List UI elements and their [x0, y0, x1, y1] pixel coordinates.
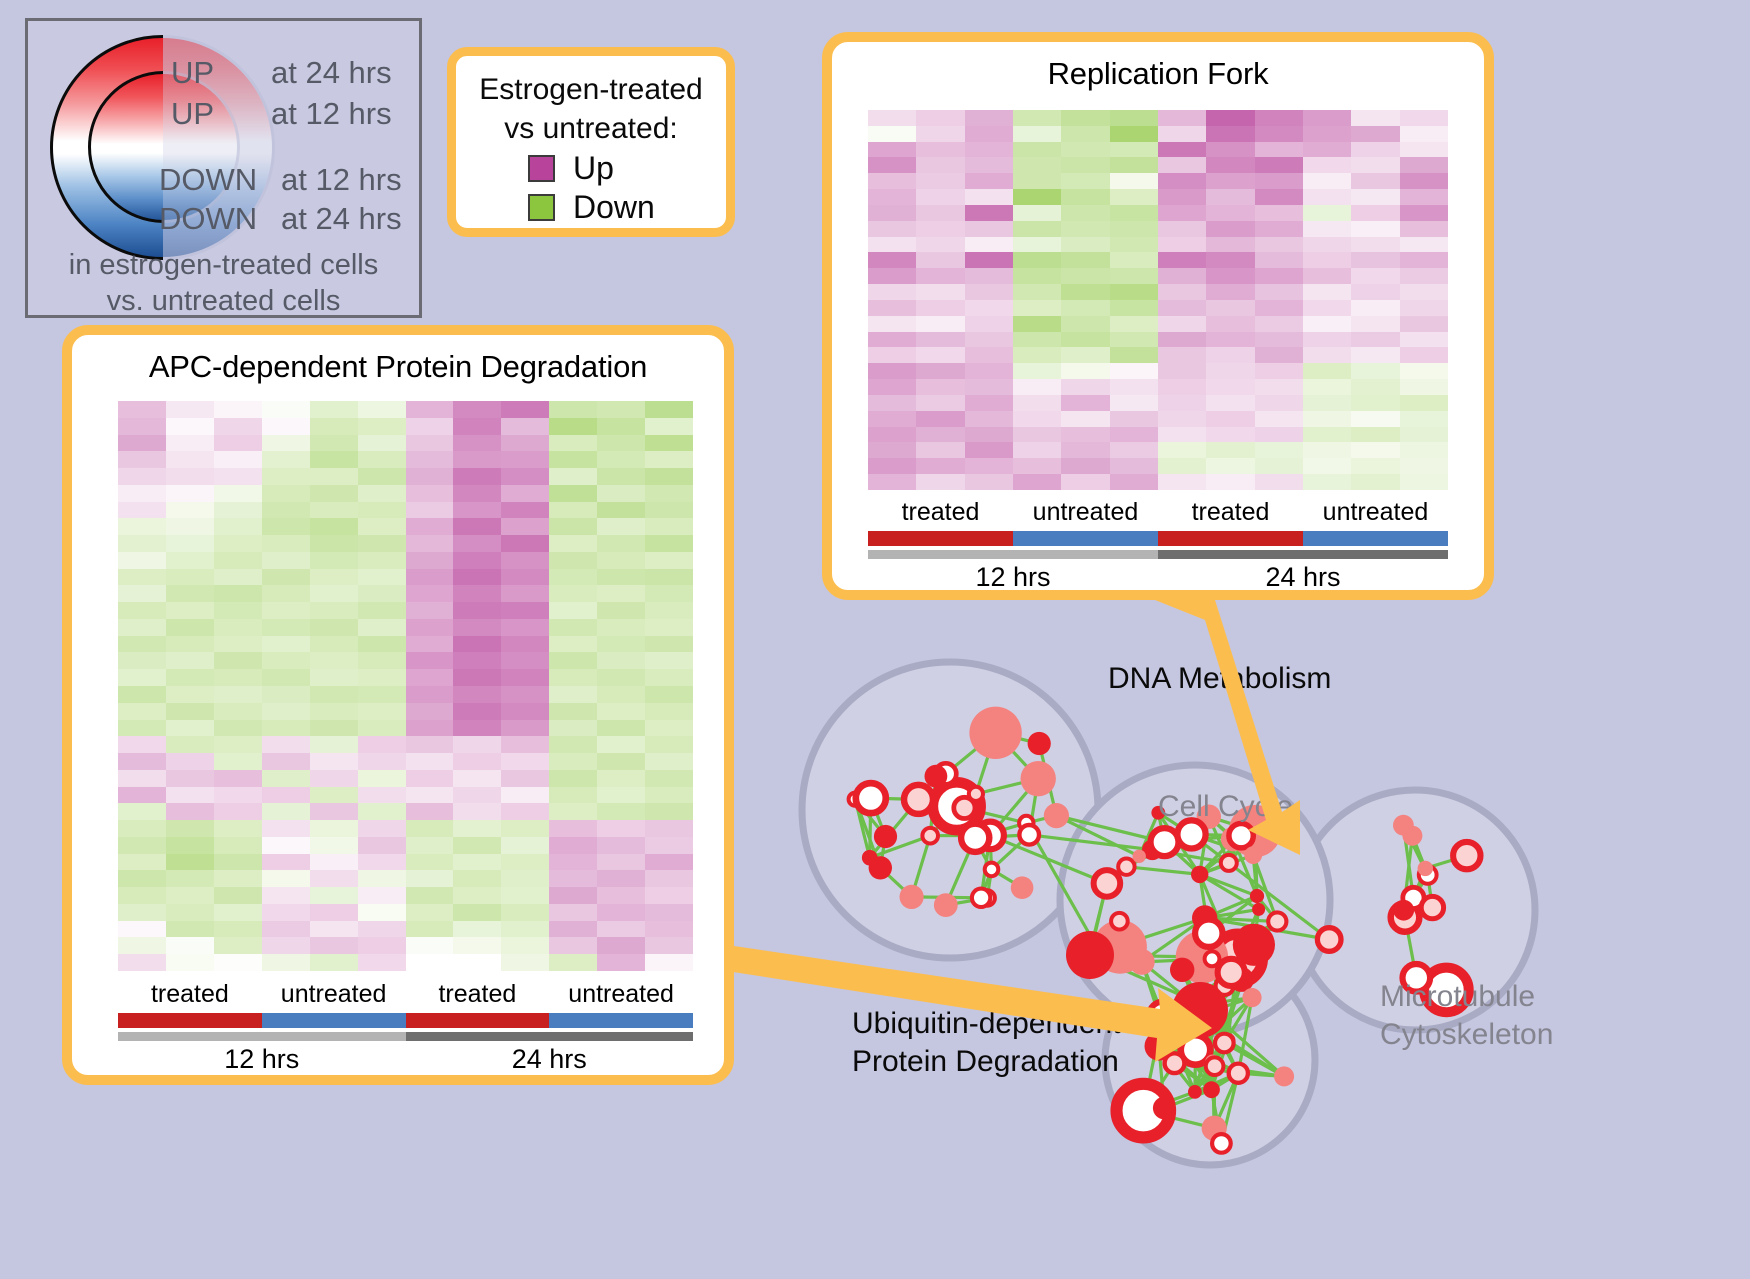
network-node[interactable]: [900, 885, 924, 909]
rf-treatment-bars: [868, 531, 1448, 546]
heat-cell: [1013, 379, 1061, 395]
heat-cell: [549, 401, 597, 418]
heat-cell: [118, 904, 166, 921]
heat-cell: [1013, 221, 1061, 237]
legend-time-down-24hrs: at 24 hrs: [281, 201, 402, 237]
heat-cell: [1013, 458, 1061, 474]
network-node[interactable]: [1203, 1081, 1220, 1098]
heat-cell: [597, 535, 645, 552]
heat-cell: [645, 820, 693, 837]
heat-cell: [166, 770, 214, 787]
heat-cell: [965, 237, 1013, 253]
heat-cell: [406, 686, 454, 703]
legend-state-up-12hrs: UP: [171, 96, 214, 132]
network-node[interactable]: [1011, 876, 1034, 899]
heat-cell: [1400, 411, 1448, 427]
heat-cell: [1158, 173, 1206, 189]
heat-cell: [868, 316, 916, 332]
heat-cell: [310, 418, 358, 435]
heat-cell: [453, 669, 501, 686]
heat-cell: [549, 753, 597, 770]
heat-cell: [645, 870, 693, 887]
heat-cell: [597, 870, 645, 887]
heat-cell: [965, 458, 1013, 474]
heat-cell: [549, 736, 597, 753]
network-node[interactable]: [1229, 824, 1253, 848]
heat-cell: [965, 332, 1013, 348]
heat-cell: [166, 803, 214, 820]
pathway-network-diagram: DNA Metabolism Cell Cycle Microtubule Cy…: [790, 610, 1750, 1279]
heat-cell: [453, 518, 501, 535]
heat-cell: [549, 518, 597, 535]
network-node[interactable]: [1028, 732, 1051, 755]
apc-treatment-bars: [118, 1013, 693, 1028]
heat-cell: [549, 502, 597, 519]
heat-cell: [645, 787, 693, 804]
heat-cell: [262, 401, 310, 418]
network-node[interactable]: [1242, 988, 1261, 1007]
heat-cell: [868, 252, 916, 268]
heat-cell: [1255, 237, 1303, 253]
heat-cell: [1255, 332, 1303, 348]
heat-cell: [453, 870, 501, 887]
heat-cell: [868, 221, 916, 237]
cluster-label-cell-cycle: Cell Cycle: [1158, 788, 1293, 826]
network-node[interactable]: [1206, 1057, 1224, 1075]
heat-cell: [1303, 427, 1351, 443]
heat-cell: [549, 585, 597, 602]
heat-cell: [916, 205, 964, 221]
heat-cell: [965, 221, 1013, 237]
heat-cell: [1158, 252, 1206, 268]
heat-cell: [645, 686, 693, 703]
group-label-treated: treated: [406, 980, 550, 1009]
network-node[interactable]: [1317, 928, 1341, 952]
heat-cell: [1158, 316, 1206, 332]
group-bar-untreated: [1013, 531, 1158, 546]
heat-cell: [501, 502, 549, 519]
heat-cell: [916, 268, 964, 284]
heat-cell: [1061, 110, 1109, 126]
heat-cell: [1110, 268, 1158, 284]
heat-cell: [214, 954, 262, 971]
heat-cell: [1158, 221, 1206, 237]
network-node[interactable]: [1393, 900, 1414, 921]
replication-fork-axis: treateduntreatedtreateduntreated 12 hrs2…: [868, 498, 1448, 593]
heat-cell: [1110, 157, 1158, 173]
heat-cell: [214, 485, 262, 502]
heat-cell: [868, 474, 916, 490]
heat-cell: [166, 753, 214, 770]
network-node[interactable]: [1044, 803, 1069, 828]
heat-cell: [358, 401, 406, 418]
heat-cell: [406, 502, 454, 519]
heat-cell: [1351, 268, 1399, 284]
heat-cell: [358, 820, 406, 837]
group-bar-untreated: [549, 1013, 693, 1028]
network-node[interactable]: [1421, 896, 1443, 918]
time-bar-24-hrs: [406, 1032, 694, 1041]
network-node[interactable]: [874, 825, 897, 848]
heat-cell: [1400, 157, 1448, 173]
heat-cell: [310, 535, 358, 552]
heat-cell: [118, 720, 166, 737]
heat-cell: [1206, 347, 1254, 363]
network-node[interactable]: [1252, 903, 1265, 916]
heat-cell: [868, 110, 916, 126]
heat-cell: [868, 347, 916, 363]
heat-cell: [1158, 395, 1206, 411]
heat-cell: [597, 451, 645, 468]
heat-cell: [262, 837, 310, 854]
network-node[interactable]: [1129, 949, 1155, 975]
heat-cell: [645, 435, 693, 452]
heat-cell: [597, 954, 645, 971]
heat-cell: [310, 401, 358, 418]
network-node[interactable]: [1215, 1034, 1234, 1053]
heat-cell: [597, 636, 645, 653]
heat-cell: [262, 753, 310, 770]
apc-degradation-heatmap: [118, 401, 693, 971]
heat-cell: [1013, 363, 1061, 379]
heat-cell: [868, 427, 916, 443]
network-node[interactable]: [954, 797, 975, 818]
heat-cell: [453, 753, 501, 770]
heat-cell: [916, 110, 964, 126]
heat-cell: [118, 652, 166, 669]
network-node[interactable]: [1221, 855, 1237, 871]
heat-cell: [645, 937, 693, 954]
network-node[interactable]: [1133, 850, 1146, 863]
heat-cell: [310, 485, 358, 502]
heat-cell: [406, 435, 454, 452]
network-node[interactable]: [1191, 866, 1208, 883]
heat-cell: [1351, 126, 1399, 142]
heat-cell: [1110, 332, 1158, 348]
heat-cell: [1158, 474, 1206, 490]
network-node[interactable]: [1453, 842, 1480, 869]
heat-cell: [1061, 221, 1109, 237]
heat-cell: [1110, 458, 1158, 474]
heat-cell: [262, 921, 310, 938]
heat-cell: [549, 770, 597, 787]
heat-cell: [1110, 205, 1158, 221]
heat-cell: [1400, 474, 1448, 490]
network-node[interactable]: [1188, 1085, 1202, 1099]
heat-cell: [1110, 379, 1158, 395]
network-node[interactable]: [1250, 889, 1264, 903]
network-node[interactable]: [972, 889, 990, 907]
heat-cell: [645, 636, 693, 653]
heat-cell: [1351, 458, 1399, 474]
heat-cell: [166, 451, 214, 468]
heat-cell: [597, 753, 645, 770]
heat-cell: [1255, 205, 1303, 221]
apc-degradation-panel: APC-dependent Protein Degradation treate…: [62, 325, 734, 1085]
heat-cell: [549, 652, 597, 669]
heat-cell: [1013, 126, 1061, 142]
network-node[interactable]: [856, 783, 886, 813]
heat-cell: [1206, 379, 1254, 395]
heat-cell: [597, 803, 645, 820]
heat-cell: [358, 619, 406, 636]
heat-cell: [597, 401, 645, 418]
heat-cell: [1061, 205, 1109, 221]
heat-cell: [1013, 284, 1061, 300]
network-node[interactable]: [1418, 861, 1433, 876]
heat-cell: [916, 252, 964, 268]
network-node[interactable]: [1094, 870, 1121, 897]
heat-cell: [965, 157, 1013, 173]
heat-cell: [262, 569, 310, 586]
heat-cell: [1303, 411, 1351, 427]
heat-cell: [501, 703, 549, 720]
heat-cell: [1013, 411, 1061, 427]
heat-cell: [1400, 142, 1448, 158]
heat-cell: [1013, 237, 1061, 253]
heat-cell: [262, 736, 310, 753]
network-node[interactable]: [1021, 761, 1056, 796]
heat-cell: [1351, 316, 1399, 332]
heat-cell: [1400, 284, 1448, 300]
network-node[interactable]: [1244, 846, 1262, 864]
heat-cell: [597, 518, 645, 535]
heat-cell: [118, 887, 166, 904]
heat-cell: [406, 418, 454, 435]
heat-cell: [1158, 347, 1206, 363]
heat-cell: [1013, 332, 1061, 348]
heat-cell: [1303, 205, 1351, 221]
heat-cell: [597, 736, 645, 753]
network-node[interactable]: [1274, 1066, 1294, 1086]
heat-cell: [406, 485, 454, 502]
heat-cell: [597, 720, 645, 737]
heat-cell: [453, 401, 501, 418]
heat-cell: [118, 787, 166, 804]
heat-cell: [1158, 427, 1206, 443]
heat-cell: [214, 686, 262, 703]
heat-cell: [453, 619, 501, 636]
heat-cell: [1206, 205, 1254, 221]
network-node[interactable]: [1118, 859, 1134, 875]
heat-cell: [965, 347, 1013, 363]
heat-cell: [358, 585, 406, 602]
heat-cell: [1013, 427, 1061, 443]
heat-cell: [645, 669, 693, 686]
heat-cell: [1061, 332, 1109, 348]
network-node[interactable]: [1066, 931, 1114, 979]
heat-cell: [1110, 189, 1158, 205]
heat-cell: [1303, 221, 1351, 237]
heat-cell: [501, 669, 549, 686]
network-node[interactable]: [1170, 958, 1194, 982]
heat-cell: [166, 937, 214, 954]
heat-cell: [118, 736, 166, 753]
network-node[interactable]: [985, 863, 999, 877]
heat-cell: [1013, 205, 1061, 221]
heat-cell: [1255, 126, 1303, 142]
heat-cell: [549, 686, 597, 703]
heat-cell: [1110, 300, 1158, 316]
heat-cell: [166, 585, 214, 602]
heat-cell: [645, 502, 693, 519]
network-node[interactable]: [1229, 1064, 1248, 1083]
heat-cell: [1351, 300, 1399, 316]
heat-cell: [166, 887, 214, 904]
heat-cell: [310, 787, 358, 804]
group-label-treated: treated: [1158, 498, 1303, 527]
heat-cell: [214, 518, 262, 535]
heat-cell: [1061, 347, 1109, 363]
heat-cell: [166, 502, 214, 519]
network-node[interactable]: [1402, 826, 1422, 846]
network-node[interactable]: [1151, 828, 1179, 856]
heat-cell: [1400, 379, 1448, 395]
heat-cell: [501, 787, 549, 804]
heat-cell: [118, 518, 166, 535]
heat-cell: [1013, 474, 1061, 490]
heat-cell: [118, 619, 166, 636]
heat-cell: [214, 435, 262, 452]
heat-cell: [965, 126, 1013, 142]
heat-cell: [965, 142, 1013, 158]
heat-cell: [549, 485, 597, 502]
heat-cell: [166, 669, 214, 686]
network-node[interactable]: [961, 824, 989, 852]
heat-cell: [358, 736, 406, 753]
heat-cell: [916, 395, 964, 411]
heat-cell: [214, 502, 262, 519]
heat-cell: [1255, 173, 1303, 189]
heat-cell: [1206, 300, 1254, 316]
heat-cell: [549, 619, 597, 636]
heat-cell: [1061, 268, 1109, 284]
network-node[interactable]: [869, 856, 892, 879]
heat-cell: [1351, 173, 1399, 189]
heat-cell: [1351, 110, 1399, 126]
heat-cell: [645, 401, 693, 418]
heat-cell: [916, 221, 964, 237]
network-node[interactable]: [1268, 912, 1286, 930]
heat-cell: [501, 451, 549, 468]
heat-cell: [1255, 474, 1303, 490]
heat-cell: [1158, 332, 1206, 348]
heat-cell: [310, 652, 358, 669]
heat-cell: [406, 753, 454, 770]
heat-cell: [406, 468, 454, 485]
time-label-12-hrs: 12 hrs: [868, 562, 1158, 593]
heat-cell: [1013, 173, 1061, 189]
heat-cell: [214, 803, 262, 820]
heat-cell: [262, 619, 310, 636]
network-node[interactable]: [1218, 959, 1245, 986]
heat-cell: [1061, 427, 1109, 443]
heat-cell: [1400, 221, 1448, 237]
gradient-legend-box: UP at 24 hrs UP at 12 hrs DOWN at 12 hrs…: [25, 18, 422, 318]
heat-cell: [645, 770, 693, 787]
heat-cell: [406, 954, 454, 971]
heat-cell: [597, 468, 645, 485]
heat-cell: [310, 435, 358, 452]
legend-time-up-12hrs: at 12 hrs: [271, 96, 392, 132]
heat-cell: [358, 803, 406, 820]
heat-cell: [406, 451, 454, 468]
network-node[interactable]: [1172, 982, 1228, 1038]
heat-cell: [965, 411, 1013, 427]
heat-cell: [1158, 284, 1206, 300]
group-bar-untreated: [1303, 531, 1448, 546]
heat-cell: [166, 401, 214, 418]
network-node[interactable]: [904, 785, 933, 814]
cluster-label-ubiquitin-protein-degradation: Ubiquitin-dependent Protein Degradation: [852, 1005, 1121, 1081]
heat-cell: [166, 904, 214, 921]
heat-cell: [1013, 142, 1061, 158]
heat-cell: [868, 395, 916, 411]
network-node[interactable]: [922, 828, 938, 844]
heat-cell: [214, 535, 262, 552]
heat-cell: [166, 921, 214, 938]
heat-cell: [1400, 316, 1448, 332]
network-node[interactable]: [1145, 1032, 1174, 1061]
network-node[interactable]: [925, 765, 948, 788]
heat-cell: [358, 937, 406, 954]
heat-cell: [1013, 189, 1061, 205]
network-node[interactable]: [969, 707, 1021, 759]
heat-cell: [1400, 205, 1448, 221]
updown-legend-title-line-1: Estrogen-treated: [456, 70, 726, 109]
heat-cell: [868, 442, 916, 458]
heat-cell: [1110, 411, 1158, 427]
network-node[interactable]: [934, 893, 958, 917]
heat-cell: [166, 820, 214, 837]
heat-cell: [1158, 379, 1206, 395]
heat-cell: [1206, 110, 1254, 126]
heat-cell: [262, 669, 310, 686]
heat-cell: [310, 770, 358, 787]
heat-cell: [166, 552, 214, 569]
heat-cell: [1255, 157, 1303, 173]
network-node[interactable]: [1195, 920, 1222, 947]
heat-cell: [501, 921, 549, 938]
heat-cell: [166, 854, 214, 871]
network-node[interactable]: [1205, 951, 1220, 966]
heat-cell: [501, 837, 549, 854]
heat-cell: [406, 518, 454, 535]
heat-cell: [358, 720, 406, 737]
heat-cell: [916, 300, 964, 316]
network-node[interactable]: [1153, 1097, 1176, 1120]
heat-cell: [1061, 300, 1109, 316]
heat-cell: [1255, 284, 1303, 300]
heat-cell: [310, 703, 358, 720]
network-node[interactable]: [1111, 913, 1128, 930]
heat-cell: [597, 837, 645, 854]
heat-cell: [214, 770, 262, 787]
heat-cell: [358, 468, 406, 485]
network-node[interactable]: [1019, 825, 1039, 845]
network-node[interactable]: [1212, 1134, 1231, 1153]
down-color-swatch: [528, 194, 555, 221]
heat-cell: [166, 703, 214, 720]
heat-cell: [501, 753, 549, 770]
heat-cell: [453, 904, 501, 921]
network-node[interactable]: [1149, 1002, 1176, 1029]
heat-cell: [1255, 189, 1303, 205]
heat-cell: [358, 552, 406, 569]
heat-cell: [1013, 347, 1061, 363]
heat-cell: [1206, 142, 1254, 158]
heat-cell: [597, 686, 645, 703]
